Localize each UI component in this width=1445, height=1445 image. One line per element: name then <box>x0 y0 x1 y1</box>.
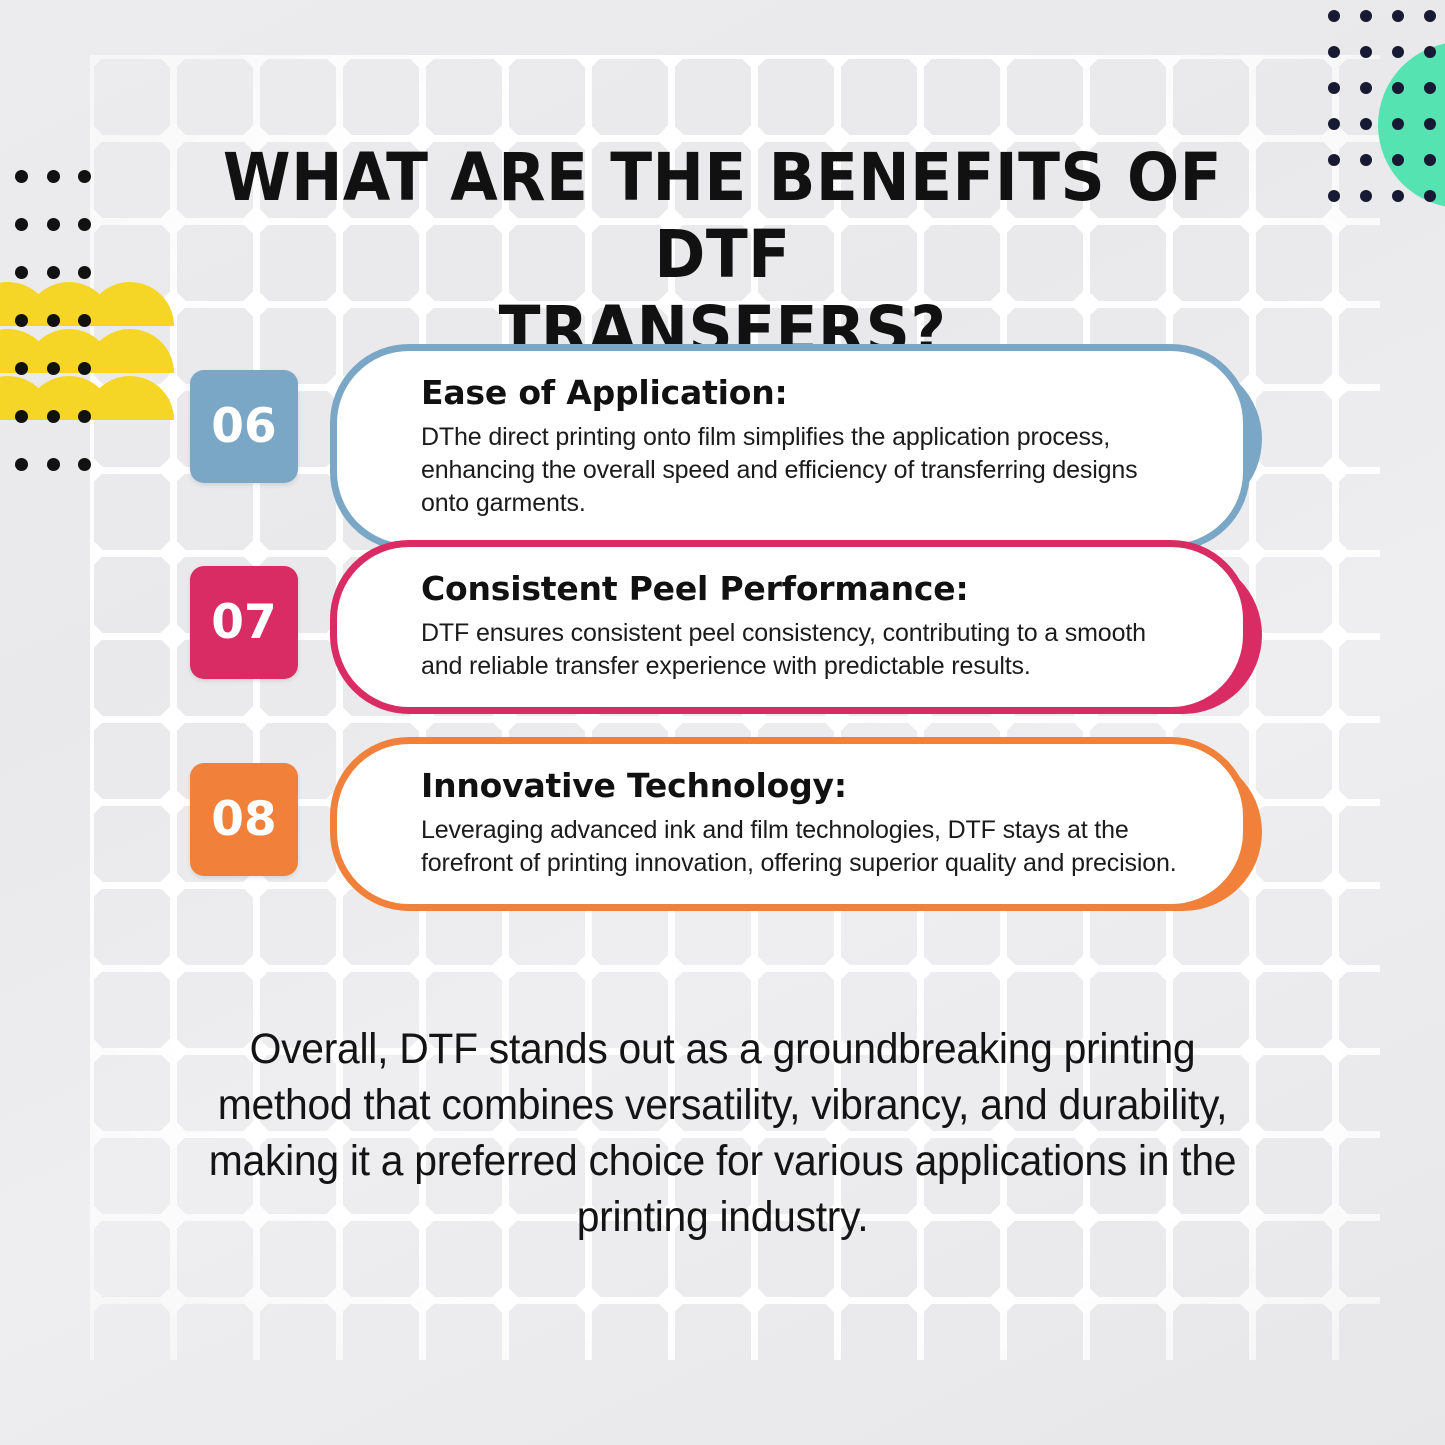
half-circle-shape <box>86 282 174 326</box>
benefit-body: DTF ensures consistent peel consistency,… <box>421 617 1191 683</box>
summary-text: Overall, DTF stands out as a groundbreak… <box>202 1022 1242 1246</box>
dot-shape <box>1392 82 1404 94</box>
dot-shape <box>1392 46 1404 58</box>
dot-shape <box>15 218 28 231</box>
benefit-card-wrapper: Ease of Application:DThe direct printing… <box>330 344 1250 551</box>
dot-shape <box>15 458 28 471</box>
half-circle-shape <box>86 376 174 420</box>
dot-shape <box>1392 10 1404 22</box>
dot-shape <box>1328 118 1340 130</box>
half-circle-shape <box>25 282 113 326</box>
dot-shape <box>78 218 91 231</box>
dot-shape <box>1424 190 1436 202</box>
benefit-card: Ease of Application:DThe direct printing… <box>330 344 1250 551</box>
dot-shape <box>15 362 28 375</box>
benefit-heading: Consistent Peel Performance: <box>421 569 1191 609</box>
dot-shape <box>1328 190 1340 202</box>
benefit-heading: Innovative Technology: <box>421 766 1191 806</box>
dot-shape <box>1328 46 1340 58</box>
dot-shape <box>78 362 91 375</box>
benefit-number-badge: 08 <box>190 763 298 876</box>
benefit-card: Consistent Peel Performance:DTF ensures … <box>330 540 1250 714</box>
dot-shape <box>47 218 60 231</box>
dot-shape <box>1424 10 1436 22</box>
dot-shape <box>1392 118 1404 130</box>
benefit-number-badge: 06 <box>190 370 298 483</box>
dot-shape <box>78 458 91 471</box>
half-circle-shape <box>86 329 174 373</box>
dot-shape <box>1424 82 1436 94</box>
benefit-number-label: 08 <box>211 792 276 847</box>
benefit-heading: Ease of Application: <box>421 373 1191 413</box>
half-circle-shape <box>0 329 52 373</box>
half-circle-shape <box>25 329 113 373</box>
dot-shape <box>1360 46 1372 58</box>
dot-shape <box>1328 10 1340 22</box>
dot-shape <box>47 266 60 279</box>
page-title: WHAT ARE THE BENEFITS OF DTF TRANSFERS? <box>213 140 1231 370</box>
dot-shape <box>47 362 60 375</box>
dot-shape <box>1424 154 1436 166</box>
dot-shape <box>47 410 60 423</box>
infographic-poster: WHAT ARE THE BENEFITS OF DTF TRANSFERS? … <box>0 0 1445 1445</box>
dot-shape <box>15 170 28 183</box>
benefit-card-wrapper: Consistent Peel Performance:DTF ensures … <box>330 540 1250 714</box>
dot-shape <box>47 458 60 471</box>
half-circle-shape <box>0 282 52 326</box>
dot-shape <box>78 410 91 423</box>
dot-shape <box>1360 118 1372 130</box>
dot-shape <box>1424 46 1436 58</box>
dot-shape <box>1392 154 1404 166</box>
dot-shape <box>15 410 28 423</box>
benefit-number-label: 07 <box>211 595 276 650</box>
dot-shape <box>1360 190 1372 202</box>
dot-shape <box>78 170 91 183</box>
dot-shape <box>1328 82 1340 94</box>
dot-shape <box>47 170 60 183</box>
dot-shape <box>1328 154 1340 166</box>
half-circle-shape <box>25 376 113 420</box>
dot-shape <box>1392 190 1404 202</box>
dot-shape <box>78 266 91 279</box>
teal-circle <box>1378 42 1445 208</box>
half-circle-shape <box>0 376 52 420</box>
benefit-number-label: 06 <box>211 399 276 454</box>
dot-shape <box>47 314 60 327</box>
dot-shape <box>1360 154 1372 166</box>
benefit-card: Innovative Technology:Leveraging advance… <box>330 737 1250 911</box>
benefit-number-badge: 07 <box>190 566 298 679</box>
dot-shape <box>15 314 28 327</box>
dot-shape <box>78 314 91 327</box>
benefit-card-wrapper: Innovative Technology:Leveraging advance… <box>330 737 1250 911</box>
benefit-body: DThe direct printing onto film simplifie… <box>421 421 1191 520</box>
dot-shape <box>15 266 28 279</box>
dot-shape <box>1424 118 1436 130</box>
dot-shape <box>1360 82 1372 94</box>
dot-shape <box>1360 10 1372 22</box>
benefit-body: Leveraging advanced ink and film technol… <box>421 814 1191 880</box>
half-circle-cluster <box>0 282 164 392</box>
